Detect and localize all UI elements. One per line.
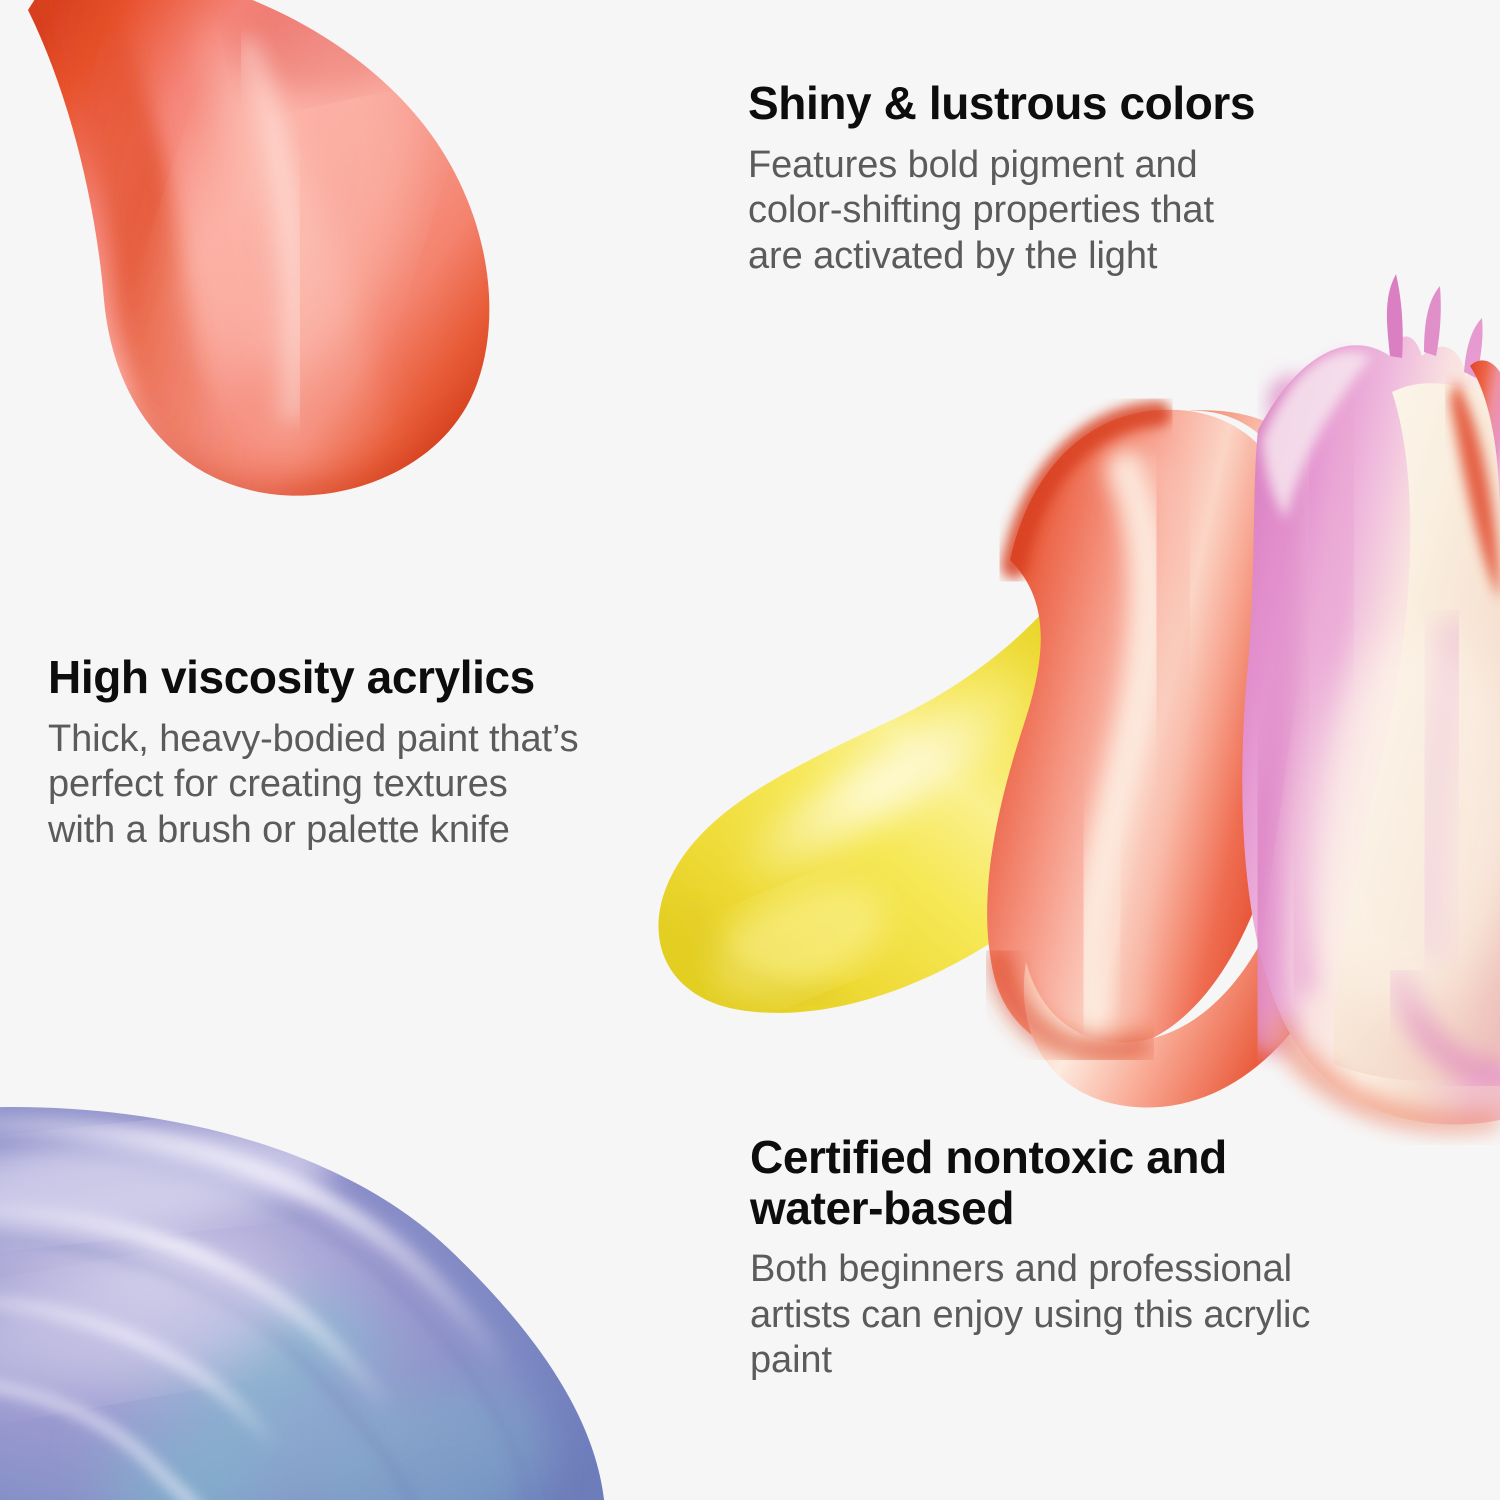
coral-teardrop-swatch: [28, 0, 489, 524]
feature-heading: Certified nontoxic and water-based: [750, 1132, 1470, 1233]
feature-body: Features bold pigment and color-shifting…: [748, 143, 1398, 280]
feature-body: Thick, heavy-bodied paint that’s perfect…: [48, 717, 728, 854]
multicolor-paint-stroke: [658, 274, 1500, 1133]
feature-heading: Shiny & lustrous colors: [748, 78, 1398, 129]
feature-body: Both beginners and professional artists …: [750, 1247, 1470, 1384]
product-feature-infographic: Shiny & lustrous colors Features bold pi…: [0, 0, 1500, 1500]
feature-shiny-lustrous-colors: Shiny & lustrous colors Features bold pi…: [748, 78, 1398, 279]
periwinkle-pearl-swatch: [0, 1107, 640, 1500]
feature-high-viscosity-acrylics: High viscosity acrylics Thick, heavy-bod…: [48, 652, 728, 853]
feature-heading: High viscosity acrylics: [48, 652, 728, 703]
feature-certified-nontoxic-water-based: Certified nontoxic and water-based Both …: [750, 1132, 1470, 1384]
